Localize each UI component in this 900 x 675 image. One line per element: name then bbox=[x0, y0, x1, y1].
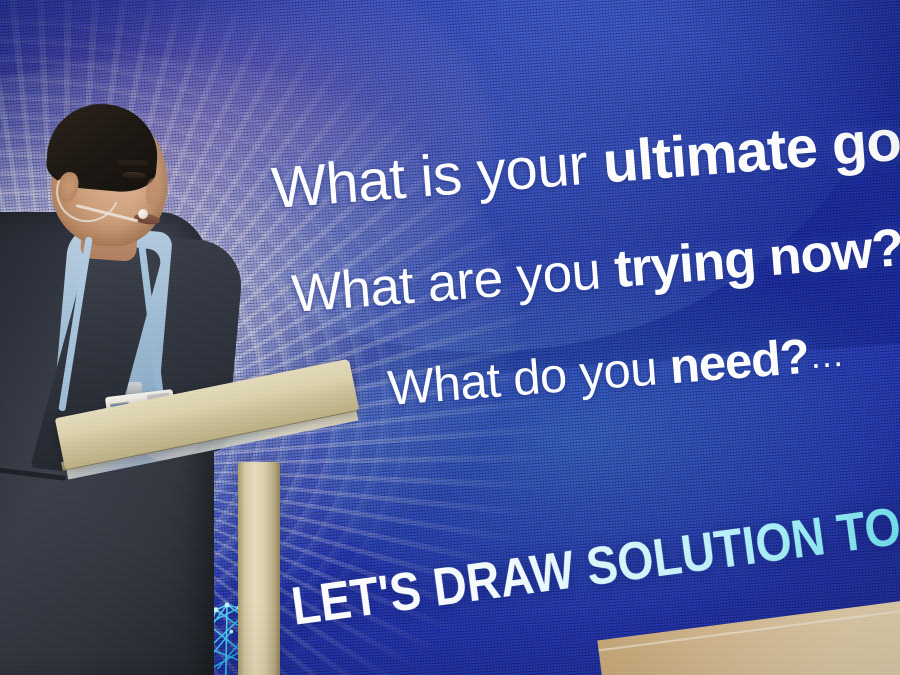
headset-microphone-capsule-icon bbox=[138, 209, 148, 219]
speaker-eyebrow bbox=[118, 159, 148, 165]
lectern-support-column bbox=[238, 462, 280, 675]
presentation-photo-scene: What is your ultimate goal?… What are yo… bbox=[0, 0, 900, 675]
